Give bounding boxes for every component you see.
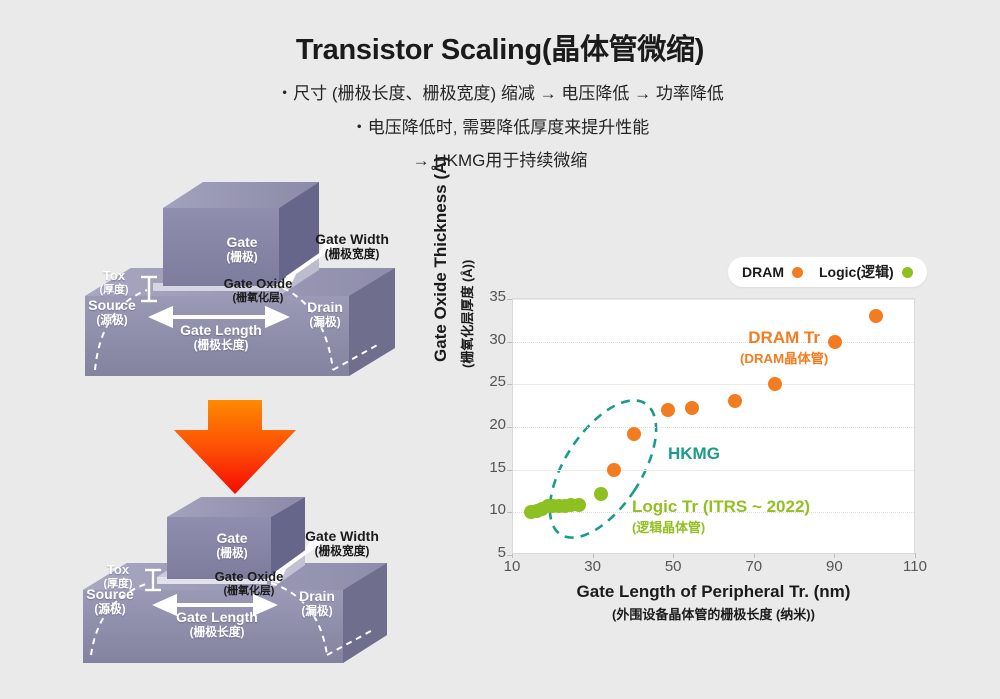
scaling-arrow <box>172 398 298 498</box>
page-title: Transistor Scaling(晶体管微缩) <box>0 26 1000 68</box>
data-point <box>607 463 621 477</box>
y-tick-label: 10 <box>472 501 506 518</box>
down-arrow-icon <box>172 398 298 498</box>
slide-canvas: Transistor Scaling(晶体管微缩) ・尺寸 (栅极长度、栅极宽度… <box>0 0 1000 699</box>
legend-dot-logic <box>902 267 913 278</box>
y-tick-label: 15 <box>472 459 506 476</box>
subtitle-line-3: → HKMG用于持续微缩 <box>0 146 1000 171</box>
annotation-hkmg: HKMG <box>668 444 720 464</box>
gridline-y <box>513 299 914 300</box>
transistor-3d-illustration-top <box>75 178 415 398</box>
data-point <box>768 377 782 391</box>
data-point <box>869 309 883 323</box>
gridline-y <box>513 342 914 344</box>
gridline-y <box>513 427 914 429</box>
x-tick-label: 110 <box>895 558 935 575</box>
data-point <box>828 335 842 349</box>
x-axis-label: Gate Length of Peripheral Tr. (nm) <box>512 582 915 602</box>
data-point <box>594 487 608 501</box>
subtitle-line-2: ・电压降低时, 需要降低厚度来提升性能 <box>0 113 1000 138</box>
legend-dot-dram <box>792 267 803 278</box>
y-tick-label: 30 <box>472 331 506 348</box>
transistor-diagram-before: Gate (栅极) Gate Oxide (栅氧化层) Gate Width (… <box>75 178 415 398</box>
gridline-y <box>513 384 914 385</box>
x-tick-label: 50 <box>653 558 693 575</box>
data-point <box>627 427 641 441</box>
y-axis-ticks: 5101520253035 <box>470 298 506 554</box>
y-axis-label-host: Gate Oxide Thickness (Å) (栅氧化层厚度 (Å)) <box>455 298 456 554</box>
chart-legend: DRAM Logic(逻辑) <box>728 257 927 287</box>
legend-label-logic: Logic(逻辑) <box>819 262 894 282</box>
transistor-3d-illustration-bottom <box>75 495 415 685</box>
x-tick-label: 90 <box>814 558 854 575</box>
x-tick-label: 70 <box>734 558 774 575</box>
legend-label-dram: DRAM <box>742 264 784 280</box>
x-tick-label: 10 <box>492 558 532 575</box>
data-point <box>661 403 675 417</box>
y-axis-label: Gate Oxide Thickness (Å) <box>431 156 451 362</box>
x-tick-mark <box>915 553 916 558</box>
data-point <box>728 394 742 408</box>
data-point <box>685 401 699 415</box>
x-axis-label-cn: (外围设备晶体管的栅极长度 (纳米)) <box>512 604 915 623</box>
x-axis-ticks: 1030507090110 <box>512 558 915 580</box>
subtitle-line-1: ・尺寸 (栅极长度、栅极宽度) 缩减 → 电压降低 → 功率降低 <box>0 79 1000 104</box>
data-point <box>572 498 586 512</box>
gridline-y <box>513 470 914 471</box>
transistor-diagram-after: Gate (栅极) Gate Oxide (栅氧化层) Gate Width (… <box>75 495 415 685</box>
annotation-logic: Logic Tr (ITRS ~ 2022) (逻辑晶体管) <box>632 497 810 536</box>
x-tick-label: 30 <box>573 558 613 575</box>
y-tick-label: 35 <box>472 288 506 305</box>
y-tick-label: 25 <box>472 373 506 390</box>
annotation-dram: DRAM Tr (DRAM晶体管) <box>740 328 828 367</box>
y-tick-label: 20 <box>472 416 506 433</box>
